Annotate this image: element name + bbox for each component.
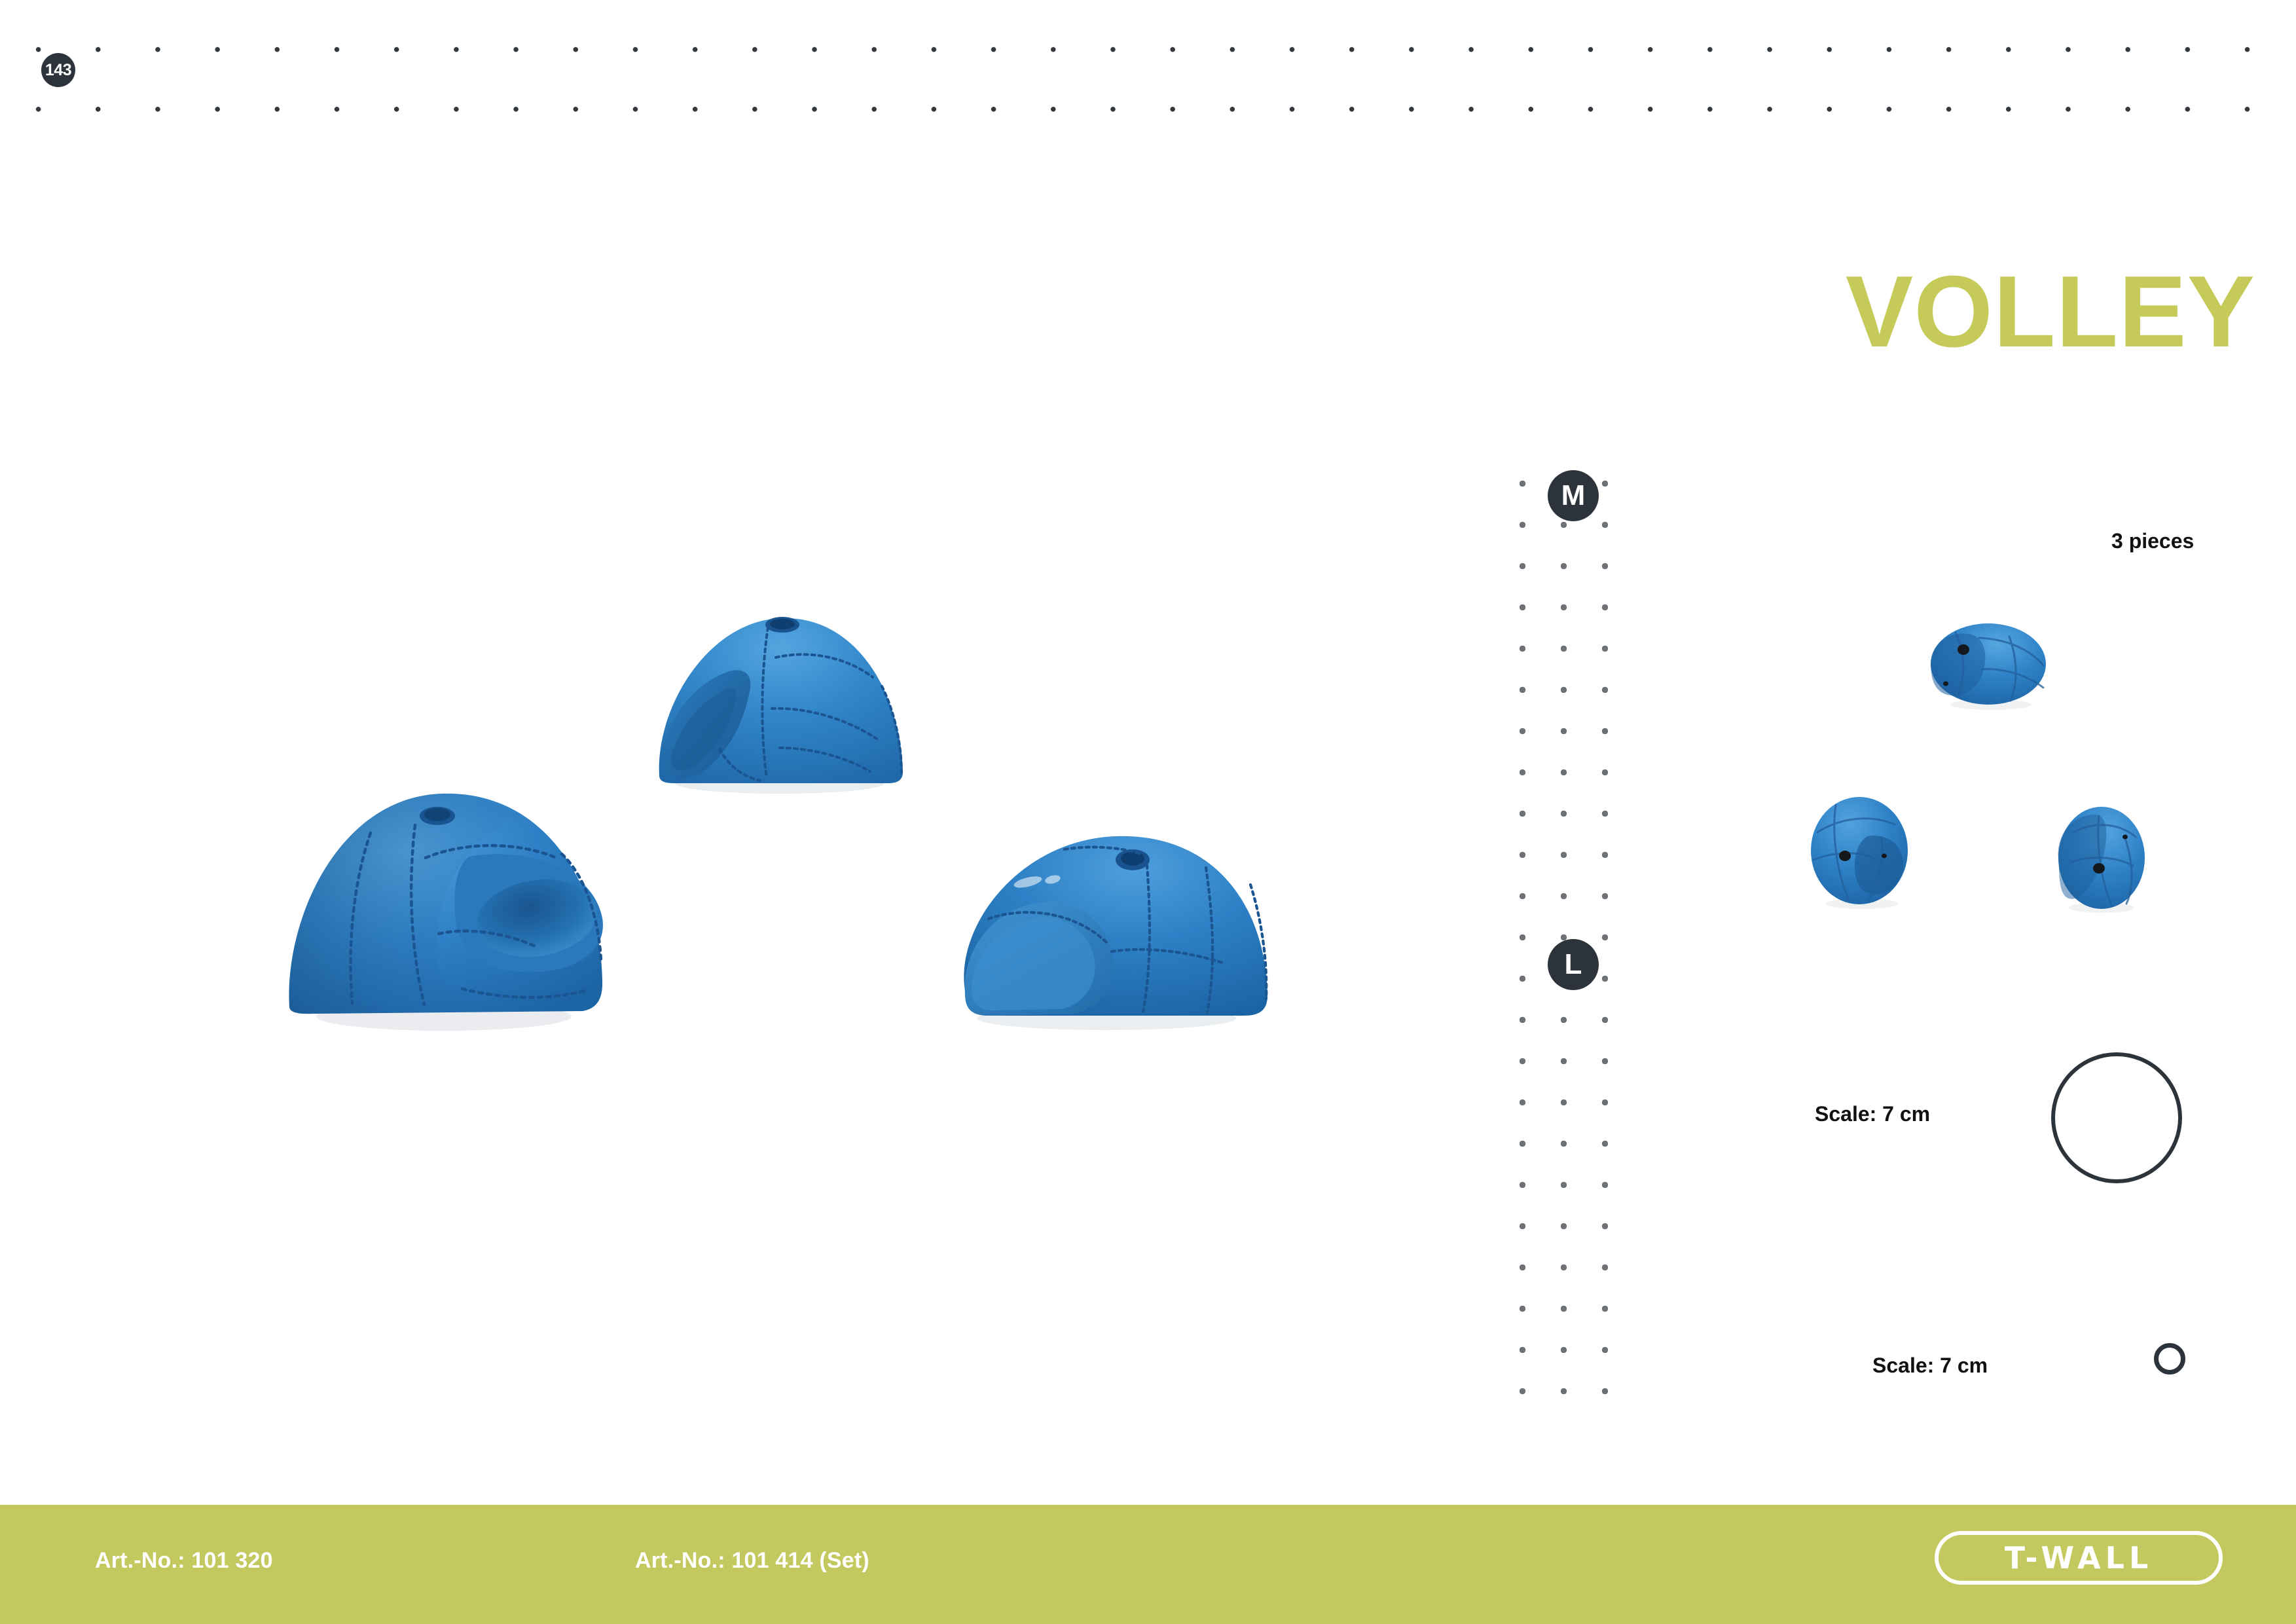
volley-hold-small-left	[1807, 796, 1915, 910]
volley-hold-small-top	[1928, 622, 2052, 710]
scale-indicator-large: Scale: 7 cm	[1794, 1041, 2232, 1185]
top-dot-grid	[0, 0, 2296, 164]
scale-label-small: Scale: 7 cm	[1872, 1354, 1988, 1378]
pieces-count-label: 3 pieces	[2111, 529, 2194, 553]
article-number-right: Art.-No.: 101 414 (Set)	[635, 1548, 869, 1574]
scale-label-large: Scale: 7 cm	[1815, 1102, 1930, 1126]
scale-circle-large-icon	[2051, 1052, 2182, 1183]
brand-logo-text: T-WALL	[2005, 1540, 2153, 1576]
size-dot-column	[1502, 458, 1633, 1408]
size-badge-medium[interactable]: M	[1548, 470, 1599, 521]
volley-hold-large-mid	[651, 609, 907, 799]
size-badge-large[interactable]: L	[1548, 939, 1599, 990]
page-title: VOLLEY	[1846, 261, 2255, 362]
volley-hold-large-right	[943, 822, 1270, 1031]
volley-hold-large-left	[275, 773, 615, 1035]
volley-hold-small-right	[2049, 805, 2151, 913]
page-number-badge: 143	[41, 53, 75, 87]
brand-logo: T-WALL	[1935, 1531, 2223, 1585]
scale-indicator-small: Scale: 7 cm	[1846, 1333, 2232, 1405]
scale-circle-small-icon	[2154, 1343, 2185, 1375]
article-number-left: Art.-No.: 101 320	[95, 1548, 273, 1574]
